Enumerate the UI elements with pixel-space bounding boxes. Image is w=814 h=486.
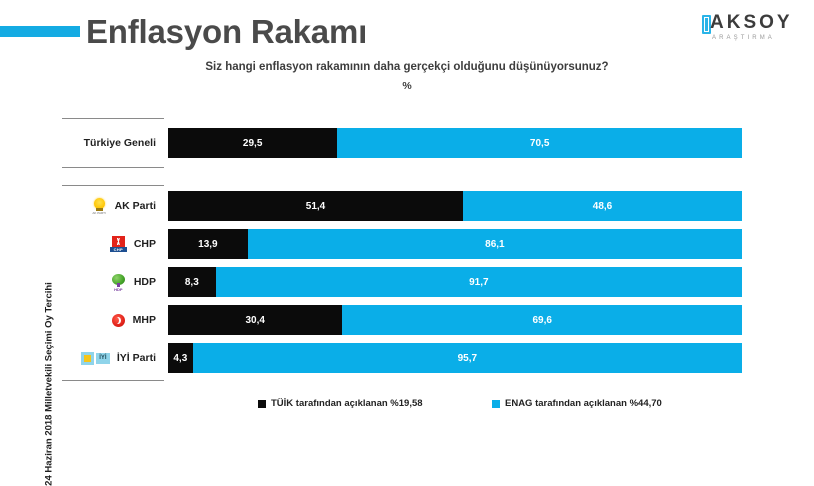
bar-value-tuik: 51,4 xyxy=(306,201,325,212)
legend-item-tuik[interactable]: TÜİK tarafından açıklanan %19,58 xyxy=(258,398,423,409)
bar-track: 29,5 70,5 xyxy=(168,128,742,158)
bar-segment-enag[interactable]: 69,6 xyxy=(342,305,742,335)
akp-logo-icon: AK PARTİ xyxy=(90,197,109,216)
party-group: AK PARTİ AK Parti 51,4 48,6 CHP xyxy=(62,185,752,381)
bar-row-turkiye-geneli[interactable]: Türkiye Geneli 29,5 70,5 xyxy=(62,128,752,158)
bar-value-enag: 69,6 xyxy=(533,315,552,326)
party-group-rule-bottom xyxy=(62,380,164,381)
row-label-chp: CHP CHP xyxy=(62,229,160,259)
bar-value-enag: 70,5 xyxy=(530,138,549,149)
bar-segment-enag[interactable]: 86,1 xyxy=(248,229,742,259)
title-accent-bar xyxy=(0,26,80,37)
bar-row-hdp[interactable]: HDP HDP 8,3 91,7 xyxy=(62,267,752,297)
bar-value-enag: 48,6 xyxy=(593,201,612,212)
bar-segment-enag[interactable]: 48,6 xyxy=(463,191,742,221)
total-group-rule-top xyxy=(62,118,164,119)
bar-segment-enag[interactable]: 70,5 xyxy=(337,128,742,158)
bar-segment-tuik[interactable]: 29,5 xyxy=(168,128,337,158)
mhp-logo-icon xyxy=(108,311,127,330)
row-label-turkiye-geneli: Türkiye Geneli xyxy=(62,128,160,158)
row-label-text: HDP xyxy=(134,276,156,288)
row-label-text: İYİ Parti xyxy=(117,352,156,364)
bar-track: 13,9 86,1 xyxy=(168,229,742,259)
bar-value-enag: 95,7 xyxy=(458,353,477,364)
bar-value-tuik: 13,9 xyxy=(198,239,217,250)
legend-swatch-icon xyxy=(258,400,266,408)
iyi-parti-logo-icon: İYİ xyxy=(81,350,111,367)
chart-area: Türkiye Geneli 29,5 70,5 AK PARTİ xyxy=(0,104,814,404)
total-group: Türkiye Geneli 29,5 70,5 xyxy=(62,118,752,168)
akp-base-shape xyxy=(96,208,103,211)
party-group-rule-top xyxy=(62,185,164,186)
bar-value-tuik: 4,3 xyxy=(173,353,187,364)
bar-value-tuik: 8,3 xyxy=(185,277,199,288)
logo-subtext: ARAŞTIRMA xyxy=(712,34,775,42)
row-label-text: Türkiye Geneli xyxy=(84,137,156,149)
bar-value-enag: 91,7 xyxy=(469,277,488,288)
page-header: Enflasyon Rakamı AKSOY ARAŞTIRMA xyxy=(0,0,814,58)
row-label-mhp: MHP xyxy=(62,305,160,335)
row-label-hdp: HDP HDP xyxy=(62,267,160,297)
bar-segment-tuik[interactable]: 4,3 xyxy=(168,343,193,373)
bar-segment-tuik[interactable]: 13,9 xyxy=(168,229,248,259)
bar-value-tuik: 29,5 xyxy=(243,138,262,149)
row-label-iyi-parti: İYİ İYİ Parti xyxy=(62,343,160,373)
vertical-axis-text: 24 Haziran 2018 Milletvekili Seçimi Oy T… xyxy=(44,282,55,486)
total-group-rule-bottom xyxy=(62,167,164,168)
logo-wordmark: AKSOY xyxy=(710,12,793,34)
chart-unit-label: % xyxy=(0,80,814,92)
bar-track: 8,3 91,7 xyxy=(168,267,742,297)
chart-legend: TÜİK tarafından açıklanan %19,58 ENAG ta… xyxy=(0,398,814,416)
vertical-axis-caption: 24 Haziran 2018 Milletvekili Seçimi Oy T… xyxy=(42,289,56,479)
row-label-text: MHP xyxy=(133,314,156,326)
legend-label-tuik: TÜİK tarafından açıklanan %19,58 xyxy=(271,398,423,409)
hdp-logo-caption: HDP xyxy=(111,287,126,292)
bar-row-chp[interactable]: CHP CHP 13,9 86,1 xyxy=(62,229,752,259)
row-label-ak-parti: AK PARTİ AK Parti xyxy=(62,191,160,221)
bar-track: 30,4 69,6 xyxy=(168,305,742,335)
bar-track: 4,3 95,7 xyxy=(168,343,742,373)
iyi-square-shape xyxy=(81,352,94,365)
bar-row-iyi-parti[interactable]: İYİ İYİ Parti 4,3 95,7 xyxy=(62,343,752,373)
akp-logo-caption: AK PARTİ xyxy=(92,212,107,215)
row-label-text: CHP xyxy=(134,238,156,250)
bar-segment-enag[interactable]: 91,7 xyxy=(216,267,742,297)
bar-row-mhp[interactable]: MHP 30,4 69,6 xyxy=(62,305,752,335)
chp-arrows-shape xyxy=(114,238,123,245)
legend-swatch-icon xyxy=(492,400,500,408)
chp-logo-band: CHP xyxy=(110,247,127,252)
chp-logo-icon: CHP xyxy=(109,235,128,254)
aksoy-logo: AKSOY ARAŞTIRMA xyxy=(702,12,798,46)
bar-value-enag: 86,1 xyxy=(485,239,504,250)
row-label-text: AK Parti xyxy=(115,200,156,212)
page-title: Enflasyon Rakamı xyxy=(86,12,367,52)
bar-track: 51,4 48,6 xyxy=(168,191,742,221)
hdp-logo-icon: HDP xyxy=(109,273,128,292)
bar-value-tuik: 30,4 xyxy=(246,315,265,326)
bar-segment-tuik[interactable]: 51,4 xyxy=(168,191,463,221)
bar-segment-tuik[interactable]: 8,3 xyxy=(168,267,216,297)
bar-segment-enag[interactable]: 95,7 xyxy=(193,343,742,373)
legend-item-enag[interactable]: ENAG tarafından açıklanan %44,70 xyxy=(492,398,662,409)
mhp-crescent-shape xyxy=(115,317,121,324)
bar-segment-tuik[interactable]: 30,4 xyxy=(168,305,342,335)
chart-subtitle: Siz hangi enflasyon rakamının daha gerçe… xyxy=(0,61,814,73)
bar-row-ak-parti[interactable]: AK PARTİ AK Parti 51,4 48,6 xyxy=(62,191,752,221)
legend-label-enag: ENAG tarafından açıklanan %44,70 xyxy=(505,398,662,409)
iyi-wordmark: İYİ xyxy=(96,353,110,364)
